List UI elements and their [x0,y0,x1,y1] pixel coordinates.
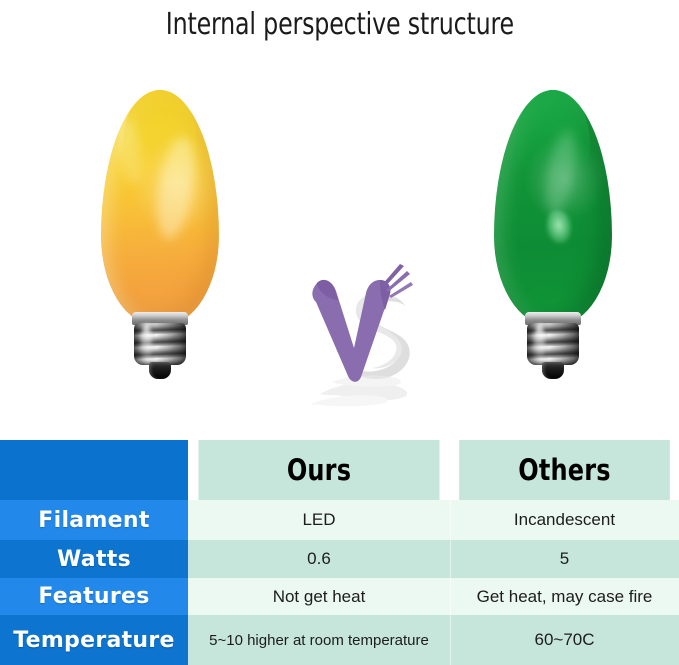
cell-filament-ours: LED [188,500,450,540]
page-title: Internal perspective structure [165,7,513,42]
cell-features-ours: Not get heat [188,578,450,615]
column-header-ours: Ours [198,440,439,500]
row-label-temperature: Temperature [0,615,188,665]
cell-temperature-others: 60~70C [450,615,679,665]
base-contact-tip [542,362,564,379]
amber-bulb-glass [101,90,219,325]
green-incandescent-bulb [478,90,628,400]
amber-bulb-screw-base [132,312,188,378]
cell-temperature-ours: 5~10 higher at room temperature [188,615,450,665]
product-comparison-hero [0,48,679,440]
amber-led-bulb [85,90,235,400]
table-corner-cell [0,440,188,500]
cell-watts-ours: 0.6 [188,540,450,578]
base-sheen [534,324,545,364]
base-sheen [141,324,152,364]
cell-watts-others: 5 [450,540,679,578]
column-header-others: Others [459,440,670,500]
row-label-features: Features [0,578,188,615]
row-label-filament: Filament [0,500,188,540]
comparison-table: Ours Others Filament LED Incandescent Wa… [0,440,679,665]
base-contact-tip [149,362,171,379]
page-title-bar: Internal perspective structure [0,0,679,48]
versus-badge [292,244,418,412]
cell-filament-others: Incandescent [450,500,679,540]
row-label-watts: Watts [0,540,188,578]
cell-features-others: Get heat, may case fire [450,578,679,615]
green-bulb-glass [494,90,612,325]
green-bulb-screw-base [525,312,581,378]
